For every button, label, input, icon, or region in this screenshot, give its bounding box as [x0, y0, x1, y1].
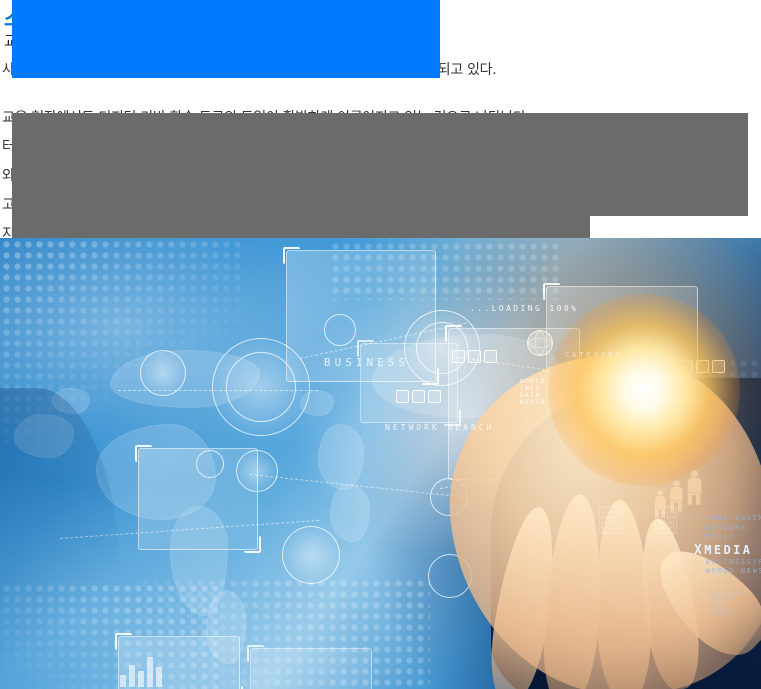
article-page: 스마트 기술이 바꾸는 일상, 디지털 전환 가속화 교육·산업 전반에 걸친 … [0, 0, 761, 689]
x-mark-icon: X [694, 543, 704, 558]
ring-graphic [236, 450, 278, 492]
ring-graphic [416, 322, 468, 374]
menu-item-show-business: - SHOW BUSINESS [694, 514, 761, 524]
menu-item-world-news: - WORLD NEWS [694, 567, 761, 577]
category-label: CATEGORY [565, 351, 623, 359]
business-label: BUSINESS [324, 356, 409, 369]
menu-item-music: - MUSIC [694, 533, 761, 543]
menu-item-network: - NETWORK [694, 524, 761, 534]
binary-code-block: 11010011 00101100 10110101 01001011 1100… [654, 506, 678, 536]
connector-line [118, 390, 318, 391]
loading-label: ...LOADING 100% [470, 304, 578, 313]
network-search-label: NETWORK SEARCH [385, 423, 494, 432]
media-title-text: MEDIA [704, 543, 752, 557]
media-menu-list: - SHOW BUSINESS - NETWORK - MUSIC XMEDIA… [694, 514, 761, 577]
hud-icon-group [396, 390, 441, 403]
blue-redaction-overlay [12, 0, 440, 78]
ring-graphic [282, 526, 340, 584]
bar-chart-glyph [120, 653, 162, 687]
hud-panel [250, 648, 372, 689]
ring-graphic [196, 450, 224, 478]
media-title: XMEDIA [694, 543, 761, 558]
light-glow-core [548, 294, 740, 486]
world-info-block: WORLD INFO DATA MEDIA [520, 378, 546, 406]
menu-item-business-finance: - BUSINESS/FI [694, 558, 761, 568]
binary-code-block: 01001101 10110100 01101011 11010010 0010… [598, 506, 622, 536]
menu-code-block: SHOW BUSINESS - NETWORK - MUSIC - MEDIA … [706, 592, 746, 617]
hero-image: ...LOADING 100% BUSINESS NETWORK SEARCH … [0, 238, 761, 689]
ring-graphic [226, 352, 296, 422]
gray-redaction-overlay-lower [12, 113, 590, 238]
ring-graphic [324, 314, 356, 346]
